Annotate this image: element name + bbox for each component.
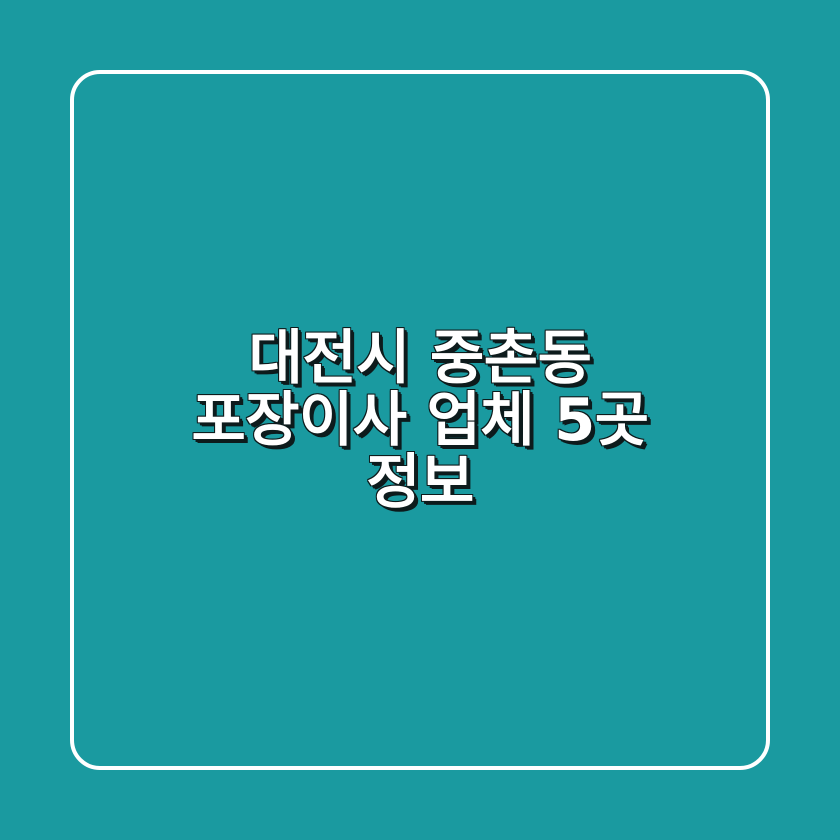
headline-line-1: 대전시 중촌동 (249, 327, 592, 389)
headline-line-2: 포장이사 업체 5곳 (191, 389, 648, 451)
headline-block: 대전시 중촌동 포장이사 업체 5곳 정보 (0, 0, 840, 840)
thumbnail-canvas: 대전시 중촌동 포장이사 업체 5곳 정보 (0, 0, 840, 840)
headline-line-3: 정보 (366, 451, 474, 513)
